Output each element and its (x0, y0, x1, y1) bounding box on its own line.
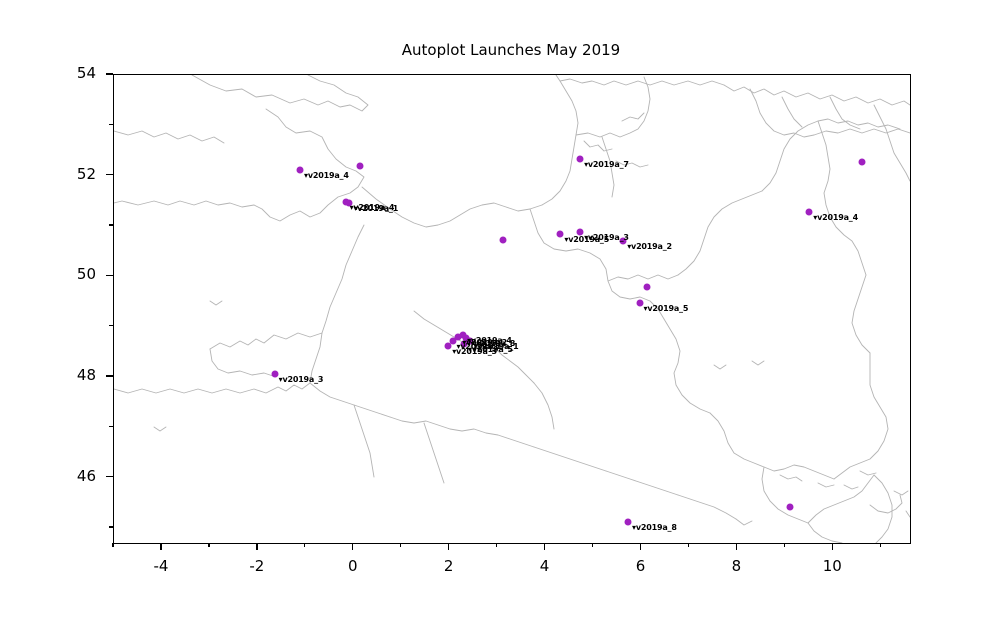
x-tick-label: 2 (429, 557, 469, 575)
y-tick-major (106, 174, 113, 175)
x-tick-minor (400, 543, 401, 547)
scatter-point-label: ▾v2019a_5 (468, 345, 513, 354)
plot-area[interactable]: ▾v2019a_4▾v2019a_4▾v2019a_1▾v2019a_3▾v20… (113, 74, 911, 544)
x-tick-label: 10 (812, 557, 852, 575)
x-tick-minor (880, 543, 881, 547)
x-tick-minor (688, 543, 689, 547)
scatter-point[interactable] (297, 166, 304, 173)
scatter-point-label: ▾v2019a_4 (813, 213, 858, 222)
scatter-point[interactable] (625, 518, 632, 525)
x-tick-major (160, 543, 161, 550)
x-tick-label: 8 (716, 557, 756, 575)
scatter-point-label: ▾v2019a_1 (353, 204, 398, 213)
x-tick-major (640, 543, 641, 550)
scatter-point[interactable] (271, 371, 278, 378)
figure-canvas: Autoplot Launches May 2019 (0, 0, 1003, 633)
scatter-point-label: ▾v2019a_7 (584, 160, 629, 169)
y-tick-label: 50 (52, 265, 96, 283)
scatter-point[interactable] (356, 162, 363, 169)
x-tick-label: -4 (141, 557, 181, 575)
x-tick-major (352, 543, 353, 550)
y-tick-major (106, 73, 113, 74)
x-tick-label: -2 (237, 557, 277, 575)
scatter-point[interactable] (806, 208, 813, 215)
scatter-point-label: ▾v2019a_5 (644, 304, 689, 313)
scatter-point-label: ▾v2019a_3 (279, 375, 324, 384)
y-tick-label: 48 (52, 366, 96, 384)
x-tick-major (832, 543, 833, 550)
x-tick-label: 4 (525, 557, 565, 575)
scatter-point[interactable] (859, 158, 866, 165)
y-tick-minor (109, 124, 113, 125)
scatter-point[interactable] (636, 300, 643, 307)
scatter-point[interactable] (557, 230, 564, 237)
scatter-point-label: ▾v2019a_3 (584, 233, 629, 242)
scatter-point-label: ▾v2019a_4 (304, 171, 349, 180)
x-tick-minor (304, 543, 305, 547)
x-tick-minor (496, 543, 497, 547)
y-tick-minor (109, 325, 113, 326)
y-tick-major (106, 275, 113, 276)
x-tick-minor (592, 543, 593, 547)
x-tick-label: 6 (620, 557, 660, 575)
y-tick-minor (109, 224, 113, 225)
scatter-point[interactable] (577, 155, 584, 162)
scatter-point-label: ▾v2019a_8 (632, 523, 677, 532)
scatter-point[interactable] (644, 284, 651, 291)
scatter-point[interactable] (787, 503, 794, 510)
y-tick-minor (109, 526, 113, 527)
y-tick-label: 46 (52, 467, 96, 485)
scatter-point-label: ▾v2019a_2 (627, 242, 672, 251)
x-tick-major (256, 543, 257, 550)
y-tick-major (106, 476, 113, 477)
y-tick-minor (109, 426, 113, 427)
x-tick-major (544, 543, 545, 550)
x-tick-minor (112, 543, 113, 547)
page-title: Autoplot Launches May 2019 (113, 41, 909, 59)
y-tick-label: 52 (52, 165, 96, 183)
x-tick-major (736, 543, 737, 550)
x-tick-minor (784, 543, 785, 547)
x-tick-label: 0 (333, 557, 373, 575)
x-tick-major (448, 543, 449, 550)
x-tick-minor (208, 543, 209, 547)
basemap-coastlines (114, 75, 910, 543)
scatter-point[interactable] (500, 236, 507, 243)
y-tick-label: 54 (52, 64, 96, 82)
y-tick-major (106, 375, 113, 376)
